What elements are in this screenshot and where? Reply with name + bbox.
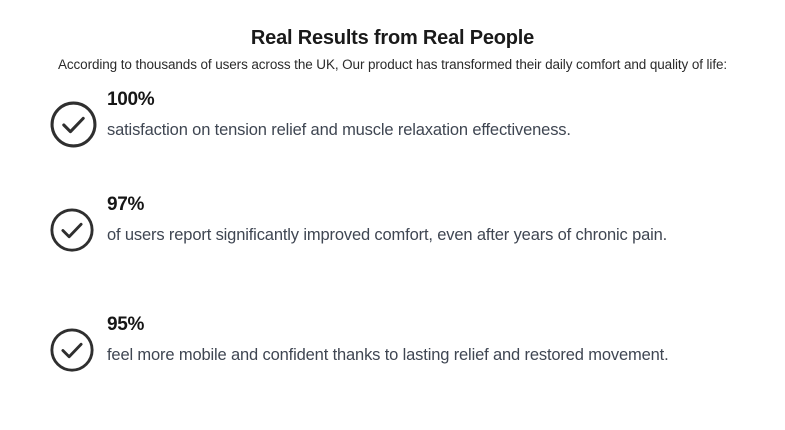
- page-title: Real Results from Real People: [0, 25, 785, 51]
- stat-item: 97% of users report significantly improv…: [0, 180, 785, 300]
- stat-value: 100%: [107, 88, 571, 112]
- results-section: Real Results from Real People According …: [0, 0, 785, 430]
- stat-value: 95%: [107, 313, 669, 337]
- stat-description: satisfaction on tension relief and muscl…: [107, 114, 571, 146]
- stat-body: 97% of users report significantly improv…: [107, 180, 667, 251]
- stat-body: 100% satisfaction on tension relief and …: [107, 80, 571, 146]
- stat-item: 95% feel more mobile and confident thank…: [0, 300, 785, 420]
- stats-list: 100% satisfaction on tension relief and …: [0, 80, 785, 420]
- stat-description: of users report significantly improved c…: [107, 219, 667, 251]
- check-circle-icon: [49, 100, 98, 149]
- check-circle-icon: [49, 207, 95, 253]
- stat-item: 100% satisfaction on tension relief and …: [0, 80, 785, 180]
- check-circle-icon: [49, 327, 95, 373]
- stat-body: 95% feel more mobile and confident thank…: [107, 300, 669, 371]
- stat-description: feel more mobile and confident thanks to…: [107, 339, 669, 371]
- page-subtitle: According to thousands of users across t…: [0, 55, 785, 75]
- stat-value: 97%: [107, 193, 667, 217]
